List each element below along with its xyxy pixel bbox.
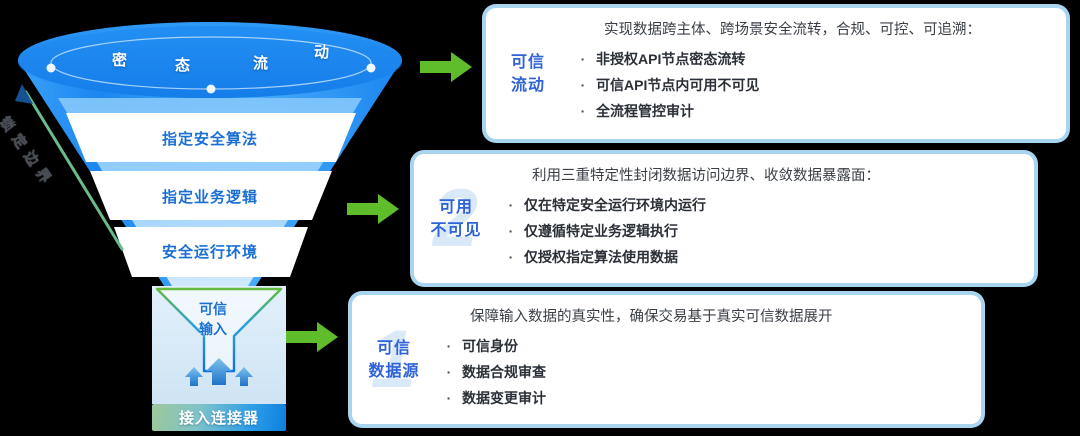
list-item: · 全流程管控审计 (570, 98, 1056, 124)
bullet-dot-icon: · (498, 192, 524, 218)
bullet-text: 可信身份 (462, 333, 518, 359)
list-item: · 可信API节点内可用不可见 (570, 72, 1056, 98)
funnel-band-label-algorithm: 指定安全算法 (0, 128, 420, 149)
list-item: · 数据变更审计 (436, 385, 971, 411)
card-usable-invisible-body: 利用三重特定性封闭数据访问边界、收敛数据暴露面： · 仅在特定安全运行环境内运行… (498, 154, 1034, 283)
list-item: · 仅遵循特定业务逻辑执行 (498, 218, 1024, 244)
badge-label-line-1: 可用 (430, 196, 481, 219)
trusted-input-line-2: 输入 (163, 319, 263, 339)
connector-bar: 接入连接器 (152, 404, 286, 431)
card-bullet-list: · 可信身份 · 数据合规审查 · 数据变更审计 (436, 333, 971, 411)
badge-label-trusted-flow: 可信 流动 (511, 51, 545, 97)
rim-char-2: 态 (175, 54, 190, 75)
badge-label-line-2: 不可见 (430, 219, 481, 242)
arrow-right-icon-flow (418, 50, 474, 84)
card-trusted-flow-body: 实现数据跨主体、跨场景安全流转，合规、可控、可追溯： · 非授权API节点密态流… (570, 8, 1066, 139)
trusted-input-label: 可信 输入 (163, 299, 263, 339)
card-trusted-data-source-badge: 1 可信 数据源 (352, 295, 436, 424)
bullet-dot-icon: · (570, 46, 596, 72)
bullet-dot-icon: · (436, 385, 462, 411)
card-trusted-data-source-body: 保障输入数据的真实性，确保交易基于真实可信数据展开 · 可信身份 · 数据合规审… (436, 295, 981, 424)
bullet-dot-icon: · (436, 333, 462, 359)
arrow-right-icon-source (284, 320, 340, 354)
bullet-dot-icon: · (570, 98, 596, 124)
bullet-dot-icon: · (498, 218, 524, 244)
badge-label-line-1: 可信 (368, 337, 419, 360)
bullet-text: 仅在特定安全运行环境内运行 (524, 192, 706, 218)
bullet-text: 数据变更审计 (462, 385, 546, 411)
diagram-canvas: 密 态 流 动 指定安全算法 指定业务逻辑 安全运行环境 可信 输入 锁定边界 … (0, 0, 1080, 436)
badge-label-line-1: 可信 (511, 51, 545, 74)
bullet-dot-icon: · (570, 72, 596, 98)
rim-char-4: 动 (314, 41, 329, 62)
rim-char-3: 流 (253, 52, 268, 73)
bullet-text: 数据合规审查 (462, 359, 546, 385)
card-usable-invisible-badge: 2 可用 不可见 (414, 154, 498, 283)
list-item: · 仅在特定安全运行环境内运行 (498, 192, 1024, 218)
badge-label-trusted-data-source: 可信 数据源 (368, 337, 419, 383)
card-trusted-flow-badge: 可信 流动 (486, 8, 570, 139)
card-trusted-flow[interactable]: 可信 流动 实现数据跨主体、跨场景安全流转，合规、可控、可追溯： · 非授权AP… (482, 4, 1070, 143)
badge-label-line-2: 数据源 (368, 360, 419, 383)
trusted-input-line-1: 可信 (163, 299, 263, 319)
list-item: · 仅授权指定算法使用数据 (498, 244, 1024, 270)
rim-dot-front (207, 85, 216, 94)
badge-label-usable-invisible: 可用 不可见 (430, 196, 481, 242)
card-usable-invisible-inner: 2 可用 不可见 利用三重特定性封闭数据访问边界、收敛数据暴露面： · 仅在特定… (414, 154, 1034, 283)
arrow-right-icon-invisible (345, 192, 401, 226)
bullet-text: 可信API节点内可用不可见 (596, 72, 759, 98)
card-heading: 实现数据跨主体、跨场景安全流转，合规、可控、可追溯： (604, 20, 1056, 42)
card-bullet-list: · 仅在特定安全运行环境内运行 · 仅遵循特定业务逻辑执行 · 仅授权指定算法使… (498, 192, 1024, 270)
card-trusted-data-source-inner: 1 可信 数据源 保障输入数据的真实性，确保交易基于真实可信数据展开 · 可信身… (352, 295, 981, 424)
badge-label-line-2: 流动 (511, 74, 545, 97)
list-item: · 非授权API节点密态流转 (570, 46, 1056, 72)
rim-char-1: 密 (112, 49, 127, 70)
funnel-band-label-runtime: 安全运行环境 (0, 241, 420, 262)
bullet-text: 非授权API节点密态流转 (596, 46, 745, 72)
bullet-text: 仅遵循特定业务逻辑执行 (524, 218, 678, 244)
card-usable-invisible[interactable]: 2 可用 不可见 利用三重特定性封闭数据访问边界、收敛数据暴露面： · 仅在特定… (410, 150, 1038, 287)
rim-dot-right (367, 64, 376, 73)
bullet-text: 仅授权指定算法使用数据 (524, 244, 678, 270)
card-heading: 保障输入数据的真实性，确保交易基于真实可信数据展开 (470, 307, 971, 329)
list-item: · 可信身份 (436, 333, 971, 359)
card-trusted-flow-inner: 可信 流动 实现数据跨主体、跨场景安全流转，合规、可控、可追溯： · 非授权AP… (486, 8, 1066, 139)
card-bullet-list: · 非授权API节点密态流转 · 可信API节点内可用不可见 · 全流程管控审计 (570, 46, 1056, 124)
card-trusted-data-source[interactable]: 1 可信 数据源 保障输入数据的真实性，确保交易基于真实可信数据展开 · 可信身… (348, 291, 985, 428)
rim-dot-left (47, 64, 56, 73)
bullet-dot-icon: · (498, 244, 524, 270)
bullet-text: 全流程管控审计 (596, 98, 694, 124)
list-item: · 数据合规审查 (436, 359, 971, 385)
bullet-dot-icon: · (436, 359, 462, 385)
card-heading: 利用三重特定性封闭数据访问边界、收敛数据暴露面： (532, 166, 1024, 188)
